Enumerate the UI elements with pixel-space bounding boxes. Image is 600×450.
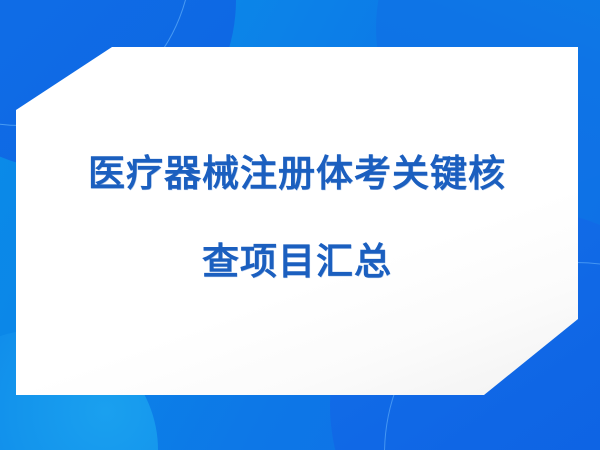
page-title: 医疗器械注册体考关键核 查项目汇总 (88, 131, 506, 303)
promo-banner: 医疗器械注册体考关键核 查项目汇总 (0, 0, 600, 450)
page-title-line-2: 查项目汇总 (88, 221, 506, 303)
page-title-line-1: 医疗器械注册体考关键核 (88, 133, 506, 215)
title-card: 医疗器械注册体考关键核 查项目汇总 (16, 47, 578, 395)
